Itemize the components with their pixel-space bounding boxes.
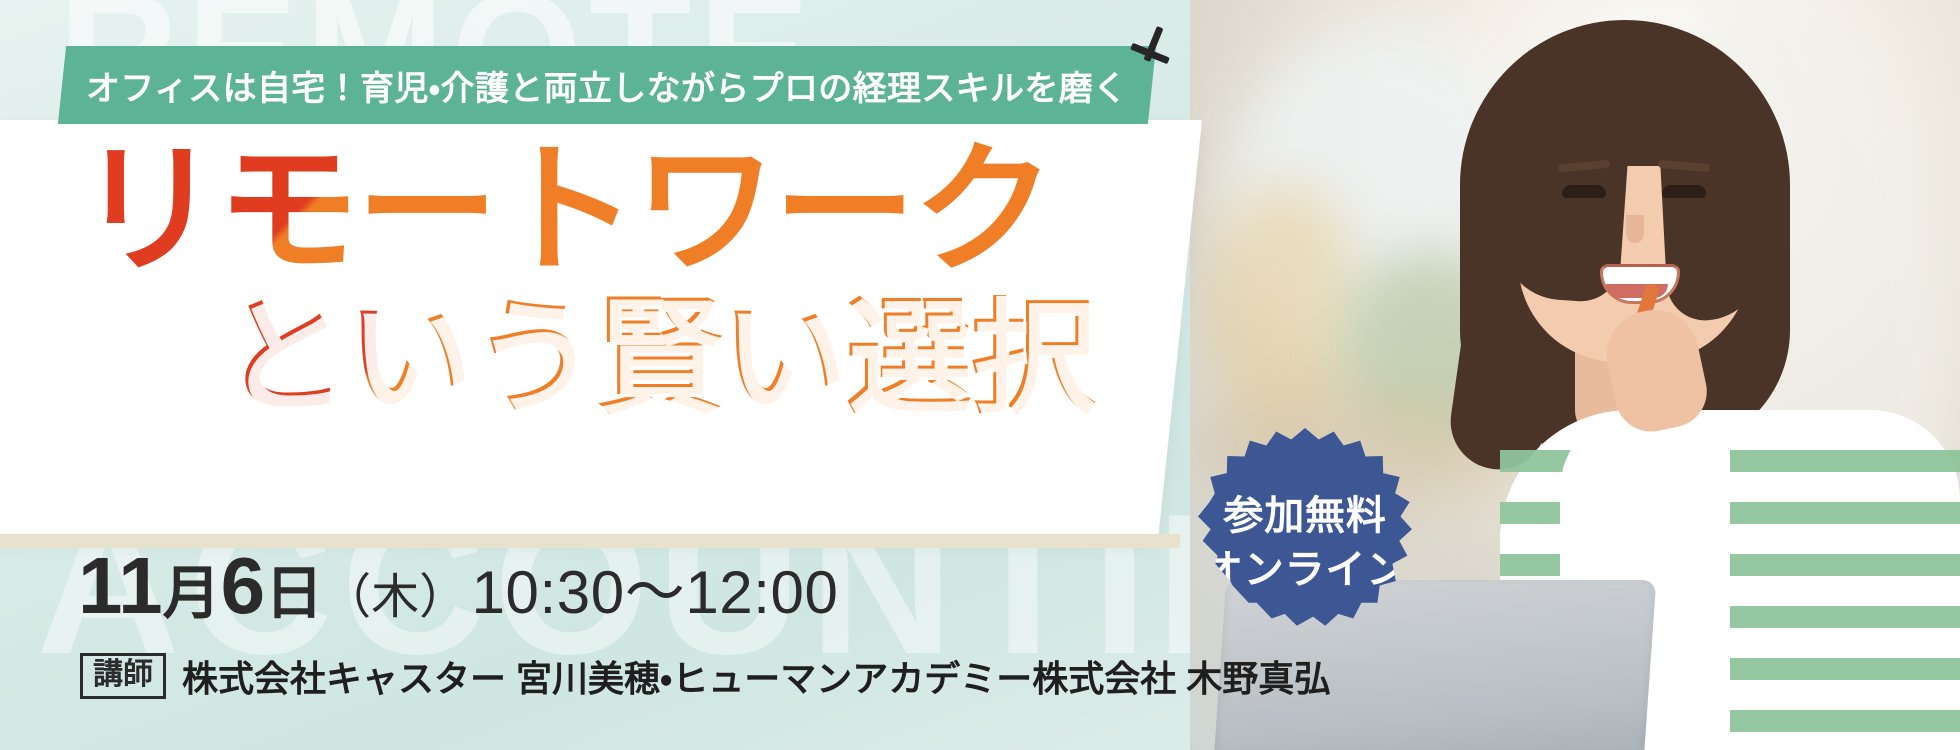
headline-line-2: という賢い選択 [222,295,1095,421]
eye-right [1662,185,1706,198]
nose [1626,215,1644,243]
presenter-photo [1190,0,1960,750]
speaker-names: 株式会社キャスター 宮川美穂・ヒューマンアカデミー株式会社 木野真弘 [182,650,1330,702]
event-datetime: 11月6日（木） 10:30〜12:00 [78,540,838,632]
event-weekday: （木） [323,571,467,624]
event-day-unit: 日 [265,561,323,626]
eye-left [1562,185,1606,198]
badge-line-1: 参加無料 [1223,489,1386,543]
subheadline-text: オフィスは自宅！育児・介護と両立しながらプロの経理スキルを磨く [86,61,1127,110]
emphasis-slash-icon [1128,22,1198,92]
event-month-unit: 月 [163,561,221,626]
subheadline-ribbon: オフィスは自宅！育児・介護と両立しながらプロの経理スキルを磨く [58,46,1156,124]
speaker-line: 講師 株式会社キャスター 宮川美穂・ヒューマンアカデミー株式会社 木野真弘 [80,650,1330,702]
event-day: 6 [221,541,266,630]
event-time: 10:30〜12:00 [472,559,839,626]
event-month: 11 [78,541,163,630]
headline-line-1: リモートワーク [78,140,1052,282]
speaker-tag-label: 講師 [80,653,166,700]
webinar-banner: REMOTE WORK ACCOUNTING [0,0,1960,750]
